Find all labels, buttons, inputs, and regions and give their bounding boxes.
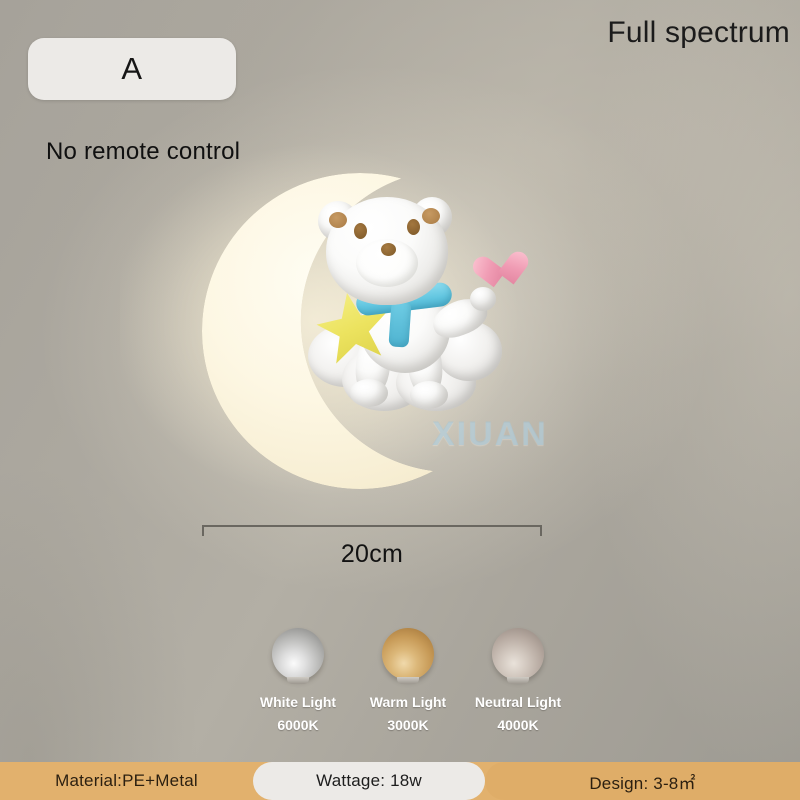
bear-ear-inner-left — [329, 212, 347, 228]
dimension-label: 20cm — [202, 540, 542, 569]
bear-eye-left — [354, 223, 367, 239]
color-temperature-kelvin: 6000K — [277, 717, 318, 733]
color-temperature-name: Neutral Light — [475, 694, 561, 710]
bear-eye-right — [407, 219, 420, 235]
variant-badge[interactable]: A — [28, 38, 236, 100]
color-temperature-option-white[interactable]: White Light 6000K — [248, 628, 348, 746]
bear-foot-left — [350, 379, 388, 407]
color-temperature-option-warm[interactable]: Warm Light 3000K — [358, 628, 458, 746]
bulb-icon-warm — [382, 628, 434, 680]
spec-wattage: Wattage: 18w — [253, 762, 485, 800]
dimension-rule — [202, 525, 542, 527]
product-image: A Full spectrum No remote control — [0, 0, 800, 800]
bear-ear-inner-right — [422, 208, 440, 224]
teddy-bear-figure — [304, 183, 494, 393]
variant-badge-label: A — [121, 51, 142, 87]
spec-material: Material:PE+Metal — [0, 762, 253, 800]
spec-bar: Material:PE+Metal Wattage: 18w Design: 3… — [0, 762, 800, 800]
lamp-assembly — [180, 155, 580, 505]
full-spectrum-label: Full spectrum — [607, 16, 790, 50]
spec-design: Design: 3-8㎡ — [485, 762, 800, 800]
color-temperature-option-neutral[interactable]: Neutral Light 4000K — [468, 628, 568, 746]
dimension-tick-right — [540, 525, 542, 536]
bulb-icon-white — [272, 628, 324, 680]
heart-icon — [480, 252, 525, 295]
dimension-tick-left — [202, 525, 204, 536]
bulb-icon-neutral — [492, 628, 544, 680]
color-temperature-kelvin: 4000K — [497, 717, 538, 733]
bear-nose — [381, 243, 396, 256]
color-temperature-options: White Light 6000K Warm Light 3000K Neutr… — [248, 628, 568, 746]
color-temperature-name: White Light — [260, 694, 336, 710]
color-temperature-name: Warm Light — [370, 694, 446, 710]
bear-foot-right — [410, 381, 448, 409]
bear-scarf-tail — [388, 300, 411, 347]
color-temperature-kelvin: 3000K — [387, 717, 428, 733]
dimension-line — [202, 520, 542, 536]
